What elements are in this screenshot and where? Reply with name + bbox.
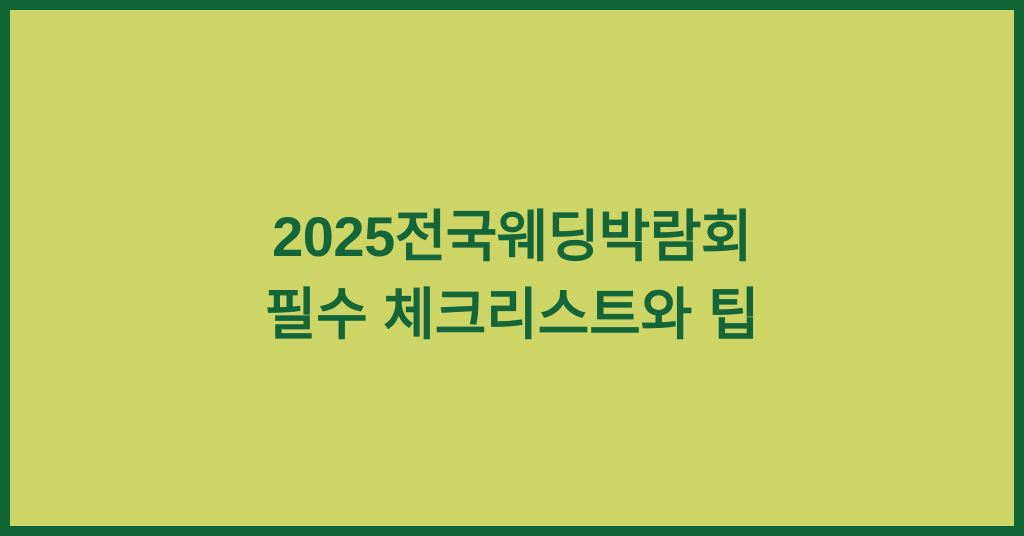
title-line-1: 2025전국웨딩박람회 xyxy=(272,198,752,276)
thumbnail-banner: 2025전국웨딩박람회 필수 체크리스트와 팁 xyxy=(0,0,1024,536)
title-line-2: 필수 체크리스트와 팁 xyxy=(265,276,760,354)
title-block: 2025전국웨딩박람회 필수 체크리스트와 팁 xyxy=(10,198,1014,354)
